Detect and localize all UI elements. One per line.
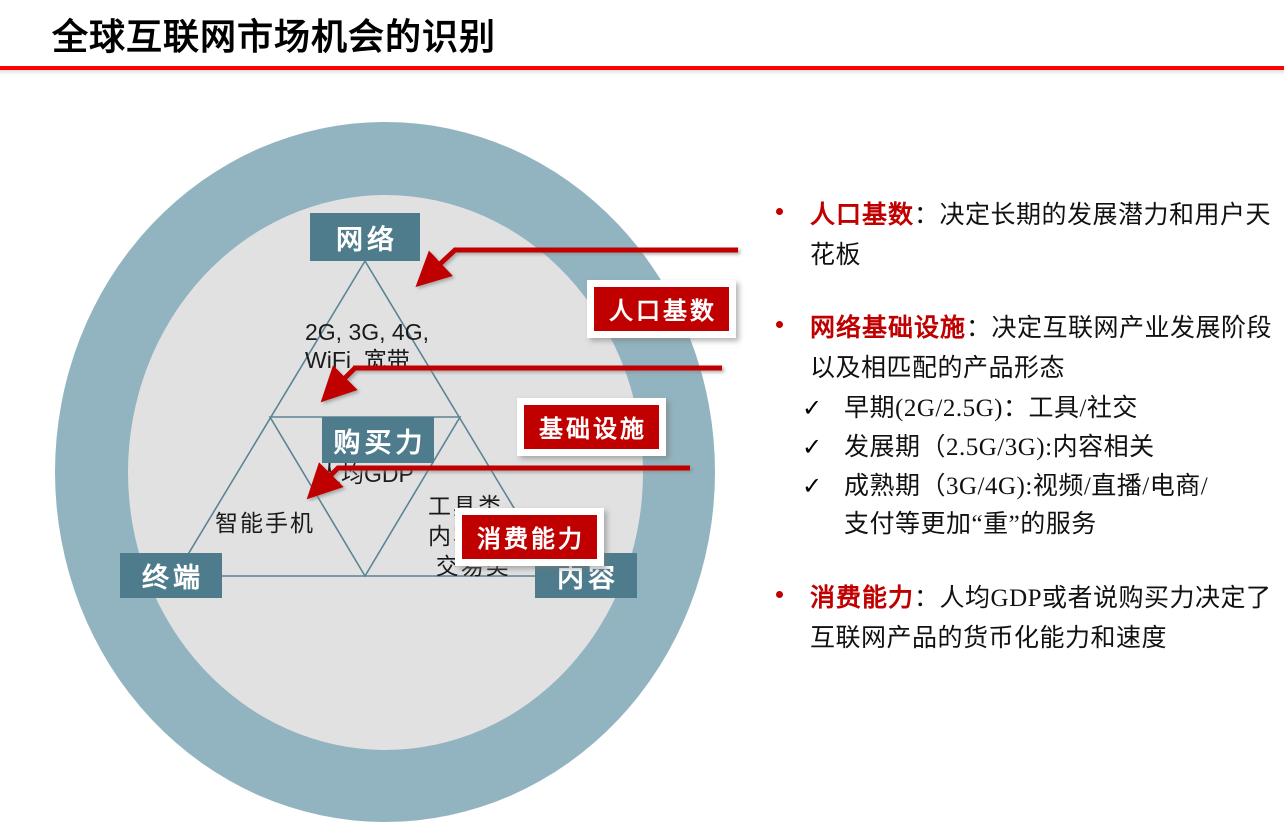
node-terminal[interactable]: 终端	[120, 553, 222, 598]
callout-consumption-capacity-label: 消费能力	[460, 513, 599, 561]
venn-triangle-diagram: 网络 终端 内容 购买力 2G, 3G, 4G, WiFi, 宽带 人均GDP …	[0, 90, 760, 804]
sub-item-mature-stage-continuation: 支付等更加“重”的服务	[796, 506, 1274, 545]
sub-item-mature-stage: ✓成熟期（3G/4G):视频/直播/电商/	[796, 468, 1274, 507]
bullet-dot-icon	[776, 208, 783, 215]
node-network[interactable]: 网络	[310, 213, 420, 261]
node-network-label: 网络	[332, 218, 398, 257]
bullet-population-separator: ：	[914, 202, 940, 229]
bullet-consumption-text: 消费能力：人均GDP或者说购买力决定了互联网产品的货币化能力和速度	[810, 579, 1274, 658]
sub-item-growth-stage-label: 发展期（2.5G/3G):内容相关	[844, 434, 1155, 461]
check-icon: ✓	[802, 390, 823, 427]
explanation-list: 人口基数：决定长期的发展潜力和用户天花板 网络基础设施：决定互联网产业发展阶段以…	[762, 196, 1274, 692]
bullet-population-text: 人口基数：决定长期的发展潜力和用户天花板	[810, 196, 1274, 275]
label-smartphone: 智能手机	[215, 510, 315, 538]
check-icon: ✓	[802, 468, 823, 505]
callout-population-base[interactable]: 人口基数	[587, 280, 736, 338]
sub-item-mature-stage-label: 成熟期（3G/4G):视频/直播/电商/	[844, 473, 1208, 500]
bullet-item-population: 人口基数：决定长期的发展潜力和用户天花板	[762, 196, 1274, 275]
callout-infrastructure[interactable]: 基础设施	[517, 398, 666, 456]
callout-infrastructure-label: 基础设施	[522, 403, 661, 451]
node-purchasing-power[interactable]: 购买力	[322, 417, 434, 463]
bullet-item-network-infrastructure: 网络基础设施：决定互联网产业发展阶段以及相匹配的产品形态 ✓早期(2G/2.5G…	[762, 309, 1274, 545]
bullet-dot-icon	[776, 321, 783, 328]
check-icon: ✓	[802, 429, 823, 466]
sub-list-network-stages: ✓早期(2G/2.5G)：工具/社交 ✓发展期（2.5G/3G):内容相关 ✓成…	[796, 390, 1274, 545]
label-per-capita-gdp: 人均GDP	[318, 460, 414, 488]
node-terminal-label: 终端	[138, 556, 204, 595]
callout-consumption-capacity[interactable]: 消费能力	[455, 508, 604, 566]
bullet-item-consumption: 消费能力：人均GDP或者说购买力决定了互联网产品的货币化能力和速度	[762, 579, 1274, 658]
callout-population-base-label: 人口基数	[592, 285, 731, 333]
bullet-consumption-head: 消费能力	[810, 585, 914, 612]
bullet-dot-icon	[776, 591, 783, 598]
bullet-infrastructure-text: 网络基础设施：决定互联网产业发展阶段以及相匹配的产品形态	[810, 309, 1274, 388]
sub-item-growth-stage: ✓发展期（2.5G/3G):内容相关	[796, 429, 1274, 468]
sub-item-early-stage: ✓早期(2G/2.5G)：工具/社交	[796, 390, 1274, 429]
node-purchasing-power-label: 购买力	[330, 421, 427, 460]
bullet-infrastructure-separator: ：	[966, 315, 992, 342]
title-bar: 全球互联网市场机会的识别	[0, 0, 1284, 72]
label-network-technologies: 2G, 3G, 4G, WiFi, 宽带	[305, 318, 429, 374]
bullet-population-head: 人口基数	[810, 202, 914, 229]
title-divider-shadow	[0, 70, 1284, 75]
sub-item-early-stage-label: 早期(2G/2.5G)：工具/社交	[844, 395, 1138, 422]
page-title: 全球互联网市场机会的识别	[52, 8, 496, 60]
bullet-consumption-separator: ：	[914, 585, 940, 612]
bullet-infrastructure-head: 网络基础设施	[810, 315, 966, 342]
